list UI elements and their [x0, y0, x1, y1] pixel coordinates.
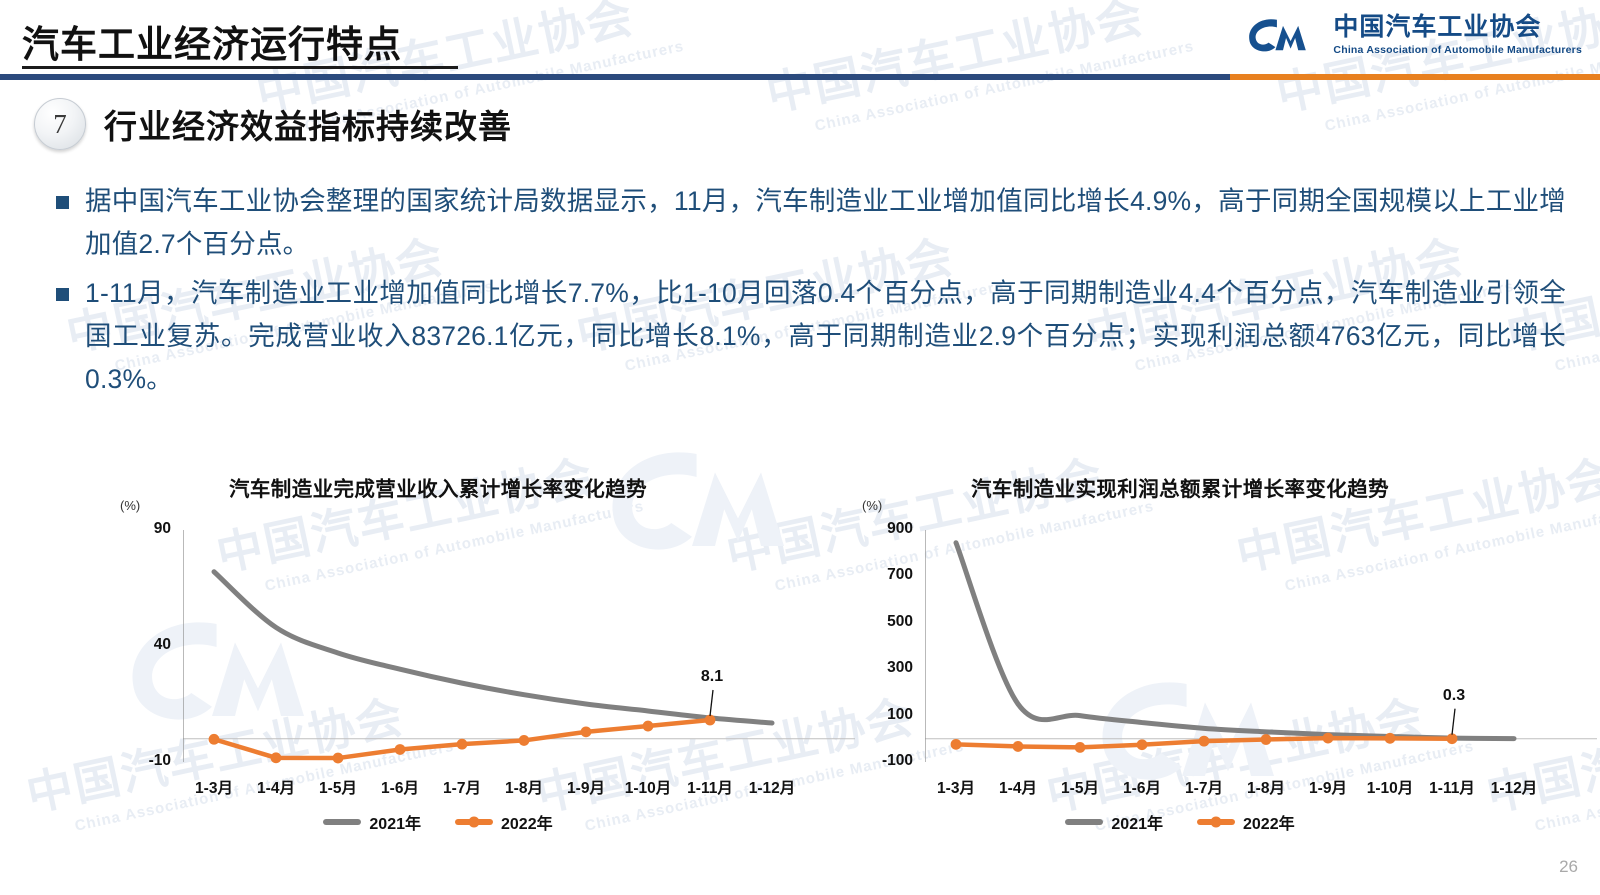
legend-item[interactable]: 2021年: [323, 810, 421, 834]
chart-title: 汽车制造业完成营业收入累计增长率变化趋势: [58, 472, 818, 502]
y-axis-tick-label: 40: [101, 636, 171, 654]
page-title: 汽车工业经济运行特点: [22, 14, 402, 68]
chart-title: 汽车制造业实现利润总额累计增长率变化趋势: [800, 472, 1560, 502]
section-heading: 7 行业经济效益指标持续改善: [34, 98, 512, 150]
legend-item[interactable]: 2021年: [1065, 810, 1163, 834]
chart-svg: [183, 530, 863, 768]
chart-data-point: [457, 739, 468, 750]
chart-data-point: [1447, 733, 1458, 744]
legend-swatch-icon: [1065, 819, 1103, 825]
header-rule-orange: [1230, 74, 1600, 80]
brand-text: 中国汽车工业协会 China Association of Automobile…: [1333, 14, 1582, 57]
chart-data-point: [1013, 741, 1024, 752]
x-axis-tick-label: 1-12月: [734, 776, 810, 798]
y-axis-tick-label: 700: [843, 566, 913, 584]
legend-label: 2021年: [369, 810, 421, 834]
chart-plot-area: 9040-101-3月1-4月1-5月1-6月1-7月1-8月1-9月1-10月…: [183, 530, 803, 762]
chart-data-point: [1075, 742, 1086, 753]
section-number-badge: 7: [34, 98, 86, 150]
legend-swatch-icon: [323, 819, 361, 825]
chart-profit-growth: 汽车制造业实现利润总额累计增长率变化趋势 (%) 900700500300100…: [800, 462, 1560, 862]
legend-label: 2022年: [501, 810, 553, 834]
y-axis-tick-label: 900: [843, 520, 913, 538]
chart-data-label: 0.3: [1424, 687, 1484, 705]
y-axis-tick-label: -10: [101, 752, 171, 770]
bullet-text: 1-11月，汽车制造业工业增加值同比增长7.7%，比1-10月回落0.4个百分点…: [85, 272, 1566, 401]
page-number: 26: [1559, 857, 1578, 877]
section-title: 行业经济效益指标持续改善: [104, 100, 512, 148]
cam-monogram-icon: [1245, 12, 1321, 58]
annotation-leader-line: [710, 690, 713, 716]
chart-data-point: [333, 753, 344, 764]
chart-svg: [925, 530, 1600, 768]
x-axis-tick-label: 1-12月: [1476, 776, 1552, 798]
bullet-list: 据中国汽车工业协会整理的国家统计局数据显示，11月，汽车制造业工业增加值同比增长…: [56, 180, 1566, 407]
brand-name-en: China Association of Automobile Manufact…: [1333, 44, 1582, 56]
chart-data-point: [705, 715, 716, 726]
chart-legend: 2021年2022年: [58, 810, 818, 834]
y-axis-tick-label: 300: [843, 659, 913, 677]
brand-name-cn: 中国汽车工业协会: [1333, 14, 1582, 42]
chart-data-point: [1137, 739, 1148, 750]
y-axis-tick-label: 500: [843, 613, 913, 631]
chart-data-point: [1261, 734, 1272, 745]
chart-data-point: [643, 721, 654, 732]
chart-data-point: [951, 739, 962, 750]
chart-data-point: [395, 744, 406, 755]
chart-data-point: [209, 734, 220, 745]
chart-data-point: [1323, 733, 1334, 744]
list-item: 据中国汽车工业协会整理的国家统计局数据显示，11月，汽车制造业工业增加值同比增长…: [56, 180, 1566, 266]
y-axis-tick-label: 90: [101, 520, 171, 538]
chart-revenue-growth: 汽车制造业完成营业收入累计增长率变化趋势 (%) 9040-101-3月1-4月…: [58, 462, 818, 862]
chart-data-point: [1385, 733, 1396, 744]
chart-unit-label: (%): [862, 498, 882, 513]
chart-plot-area: 900700500300100-1001-3月1-4月1-5月1-6月1-7月1…: [925, 530, 1545, 762]
chart-data-point: [1199, 736, 1210, 747]
bullet-square-icon: [56, 288, 69, 301]
chart-data-point: [519, 735, 530, 746]
legend-item[interactable]: 2022年: [1197, 810, 1295, 834]
y-axis-tick-label: -100: [843, 752, 913, 770]
bullet-square-icon: [56, 196, 69, 209]
chart-series-line: [956, 543, 1514, 739]
slide-header: 汽车工业经济运行特点 中国汽车工业协会 China Association of…: [0, 0, 1600, 80]
title-underline: [22, 66, 458, 69]
chart-series-line: [214, 572, 772, 723]
legend-swatch-icon: [1197, 819, 1235, 825]
chart-data-label: 8.1: [682, 668, 742, 686]
chart-unit-label: (%): [120, 498, 140, 513]
list-item: 1-11月，汽车制造业工业增加值同比增长7.7%，比1-10月回落0.4个百分点…: [56, 272, 1566, 401]
legend-label: 2022年: [1243, 810, 1295, 834]
brand-logo: 中国汽车工业协会 China Association of Automobile…: [1245, 12, 1582, 58]
legend-label: 2021年: [1111, 810, 1163, 834]
annotation-leader-line: [1452, 709, 1455, 735]
bullet-text: 据中国汽车工业协会整理的国家统计局数据显示，11月，汽车制造业工业增加值同比增长…: [85, 180, 1566, 266]
chart-legend: 2021年2022年: [800, 810, 1560, 834]
chart-data-point: [581, 726, 592, 737]
y-axis-tick-label: 100: [843, 706, 913, 724]
chart-data-point: [271, 752, 282, 763]
legend-item[interactable]: 2022年: [455, 810, 553, 834]
legend-swatch-icon: [455, 819, 493, 825]
